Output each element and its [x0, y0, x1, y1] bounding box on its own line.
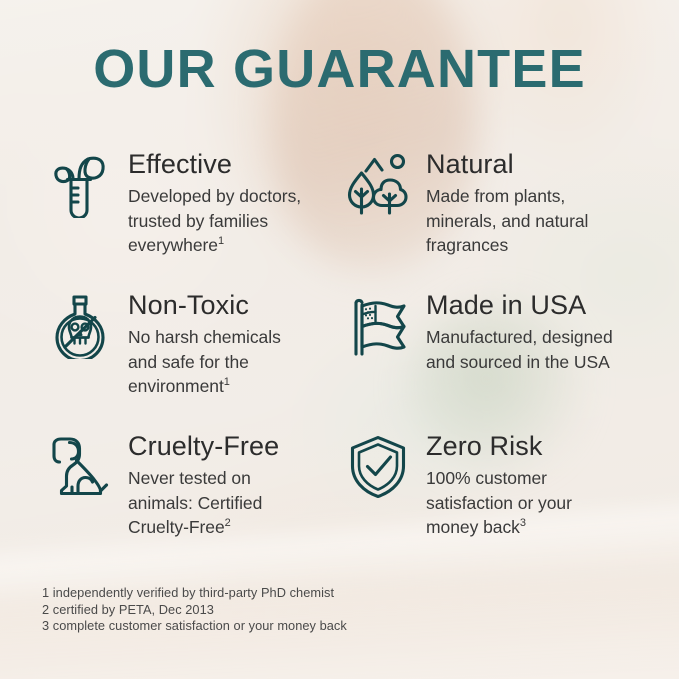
feature-desc-line: and safe for the — [128, 352, 249, 372]
feature-desc-line: 100% customer — [426, 468, 547, 488]
feature-text-natural: Natural Made from plants, minerals, and … — [426, 148, 642, 258]
feature-desc-line: No harsh chemicals — [128, 327, 281, 347]
feature-desc-line: fragrances — [426, 235, 508, 255]
feature-title: Zero Risk — [426, 430, 642, 463]
feature-description: Made from plants, minerals, and natural … — [426, 184, 642, 258]
feature-title: Cruelty-Free — [128, 430, 342, 463]
test-tube-leaf-icon — [44, 148, 116, 224]
poison-flask-skull-crossed-icon — [44, 289, 116, 365]
feature-item-zero-risk: Zero Risk 100% customer satisfaction or … — [342, 430, 642, 571]
feature-desc-line: and sourced in the USA — [426, 352, 610, 372]
feature-title: Non-Toxic — [128, 289, 342, 322]
feature-description: Manufactured, designed and sourced in th… — [426, 325, 642, 374]
feature-item-natural: Natural Made from plants, minerals, and … — [342, 148, 642, 289]
feature-text-non-toxic: Non-Toxic No harsh chemicals and safe fo… — [128, 289, 342, 399]
usa-flag-icon — [342, 289, 414, 365]
feature-desc-line: minerals, and natural — [426, 211, 588, 231]
sitting-dog-icon — [44, 430, 116, 506]
feature-item-made-in-usa: Made in USA Manufactured, designed and s… — [342, 289, 642, 430]
feature-desc-line: Made from plants, — [426, 186, 565, 206]
feature-desc-line: Developed by doctors, — [128, 186, 301, 206]
feature-desc-line: satisfaction or your — [426, 493, 572, 513]
feature-description: Never tested on animals: Certified Cruel… — [128, 466, 342, 540]
feature-footnote-marker: 1 — [218, 235, 224, 247]
feature-footnote-marker: 3 — [520, 517, 526, 529]
footnote-line-2: 2 certified by PETA, Dec 2013 — [42, 602, 347, 619]
feature-title: Natural — [426, 148, 642, 181]
feature-item-effective: Effective Developed by doctors, trusted … — [44, 148, 342, 289]
feature-desc-line: Manufactured, designed — [426, 327, 613, 347]
footnote-line-3: 3 complete customer satisfaction or your… — [42, 618, 347, 635]
feature-text-made-in-usa: Made in USA Manufactured, designed and s… — [426, 289, 642, 374]
feature-title: Made in USA — [426, 289, 642, 322]
feature-title: Effective — [128, 148, 342, 181]
feature-item-cruelty-free: Cruelty-Free Never tested on animals: Ce… — [44, 430, 342, 571]
feature-text-zero-risk: Zero Risk 100% customer satisfaction or … — [426, 430, 642, 540]
feature-desc-line: everywhere — [128, 235, 218, 255]
guarantee-infographic: OUR GUARANTEE Effective — [0, 0, 679, 679]
feature-desc-line: trusted by families — [128, 211, 268, 231]
feature-text-effective: Effective Developed by doctors, trusted … — [128, 148, 342, 258]
page-title: OUR GUARANTEE — [0, 39, 679, 99]
feature-desc-line: Cruelty-Free — [128, 517, 225, 537]
shield-check-icon — [342, 430, 414, 506]
feature-description: 100% customer satisfaction or your money… — [426, 466, 642, 540]
feature-footnote-marker: 2 — [225, 517, 231, 529]
feature-description: Developed by doctors, trusted by familie… — [128, 184, 342, 258]
feature-footnote-marker: 1 — [224, 376, 230, 388]
content-layer: OUR GUARANTEE Effective — [0, 0, 679, 679]
feature-text-cruelty-free: Cruelty-Free Never tested on animals: Ce… — [128, 430, 342, 540]
trees-mountain-sun-icon — [342, 148, 414, 224]
feature-desc-line: money back — [426, 517, 520, 537]
feature-grid: Effective Developed by doctors, trusted … — [44, 148, 644, 571]
footnote-line-1: 1 independently verified by third-party … — [42, 585, 347, 602]
feature-desc-line: animals: Certified — [128, 493, 262, 513]
feature-desc-line: Never tested on — [128, 468, 251, 488]
footnotes: 1 independently verified by third-party … — [42, 585, 347, 635]
feature-description: No harsh chemicals and safe for the envi… — [128, 325, 342, 399]
feature-item-non-toxic: Non-Toxic No harsh chemicals and safe fo… — [44, 289, 342, 430]
feature-desc-line: environment — [128, 376, 224, 396]
